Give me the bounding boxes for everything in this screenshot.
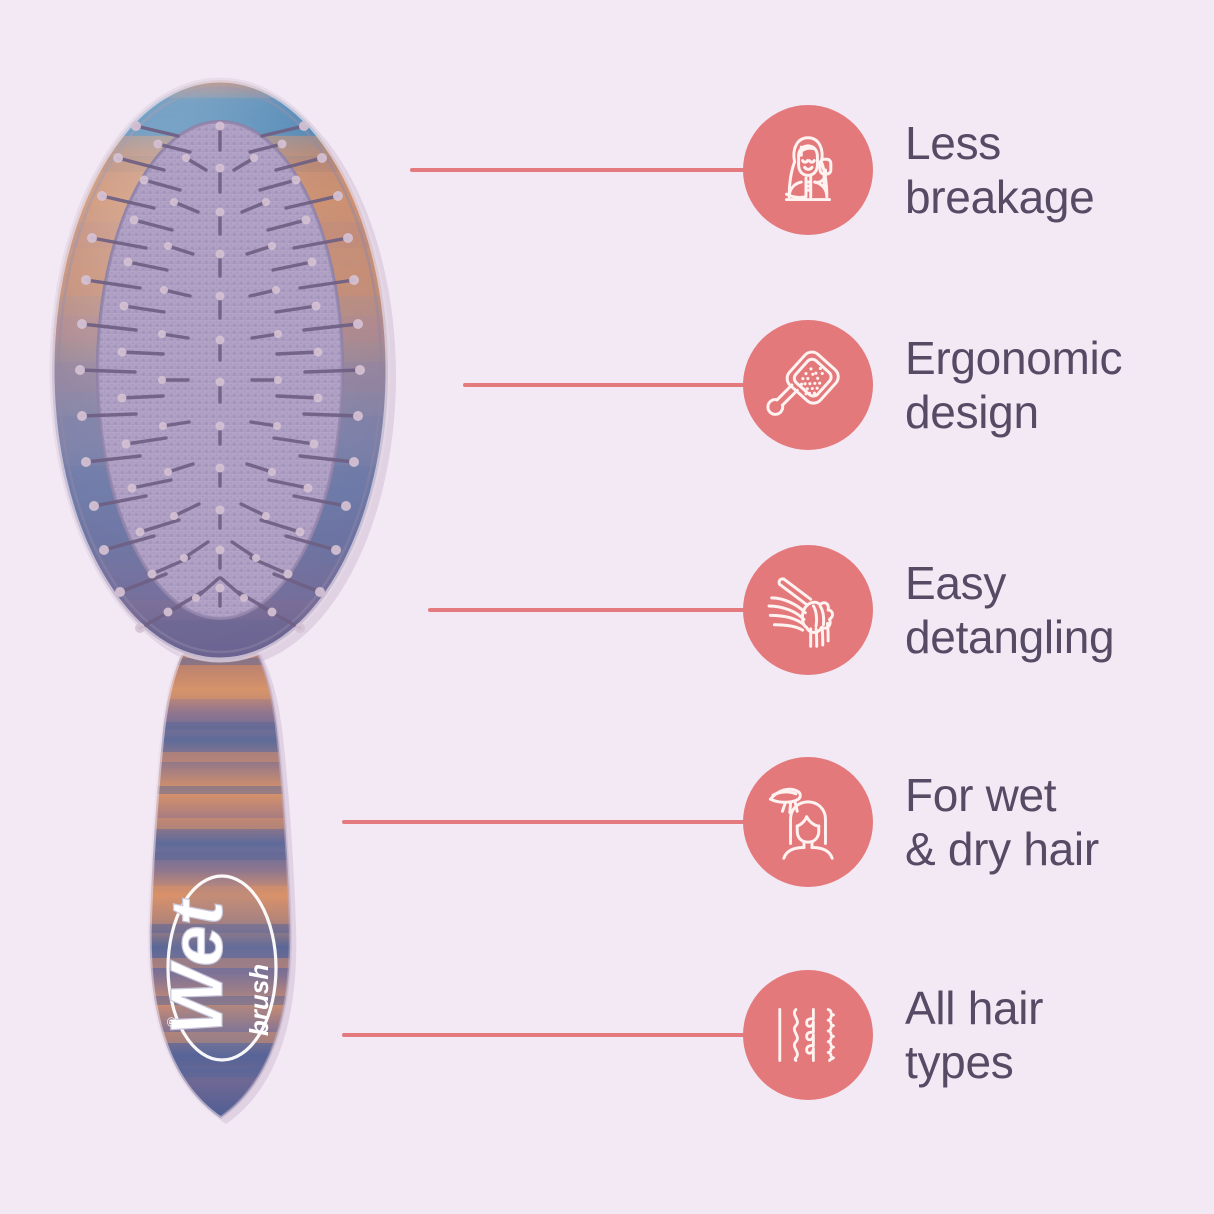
- connector-line-4: [342, 820, 748, 824]
- product-feature-infographic: Wet brush ®: [0, 0, 1214, 1214]
- feature-badge-for-wet-and-dry-hair[interactable]: [743, 757, 873, 887]
- connector-line-3: [428, 608, 748, 612]
- feature-row-all-hair-types: All hair types: [0, 965, 1214, 1105]
- feature-badge-ergonomic-design[interactable]: [743, 320, 873, 450]
- feature-badge-less-breakage[interactable]: [743, 105, 873, 235]
- feature-label-easy-detangling: Easy detangling: [905, 540, 1195, 680]
- connector-line-1: [410, 168, 748, 172]
- feature-label-all-hair-types: All hair types: [905, 965, 1195, 1105]
- connector-line-2: [463, 383, 748, 387]
- shower-head-over-hair-icon: [765, 779, 851, 865]
- feature-row-ergonomic-design: Ergonomic design: [0, 315, 1214, 455]
- paddle-brush-icon: [765, 342, 851, 428]
- feature-label-less-breakage: Less breakage: [905, 100, 1195, 240]
- feature-row-for-wet-and-dry-hair: For wet & dry hair: [0, 752, 1214, 892]
- hair-texture-types-icon: [765, 992, 851, 1078]
- feature-badge-easy-detangling[interactable]: [743, 545, 873, 675]
- connector-line-5: [342, 1033, 748, 1037]
- feature-badge-all-hair-types[interactable]: [743, 970, 873, 1100]
- woman-brushing-hair-icon: [765, 127, 851, 213]
- hand-detangling-hair-icon: [765, 567, 851, 653]
- feature-row-less-breakage: Less breakage: [0, 100, 1214, 240]
- feature-label-ergonomic-design: Ergonomic design: [905, 315, 1195, 455]
- feature-label-for-wet-and-dry-hair: For wet & dry hair: [905, 752, 1195, 892]
- feature-row-easy-detangling: Easy detangling: [0, 540, 1214, 680]
